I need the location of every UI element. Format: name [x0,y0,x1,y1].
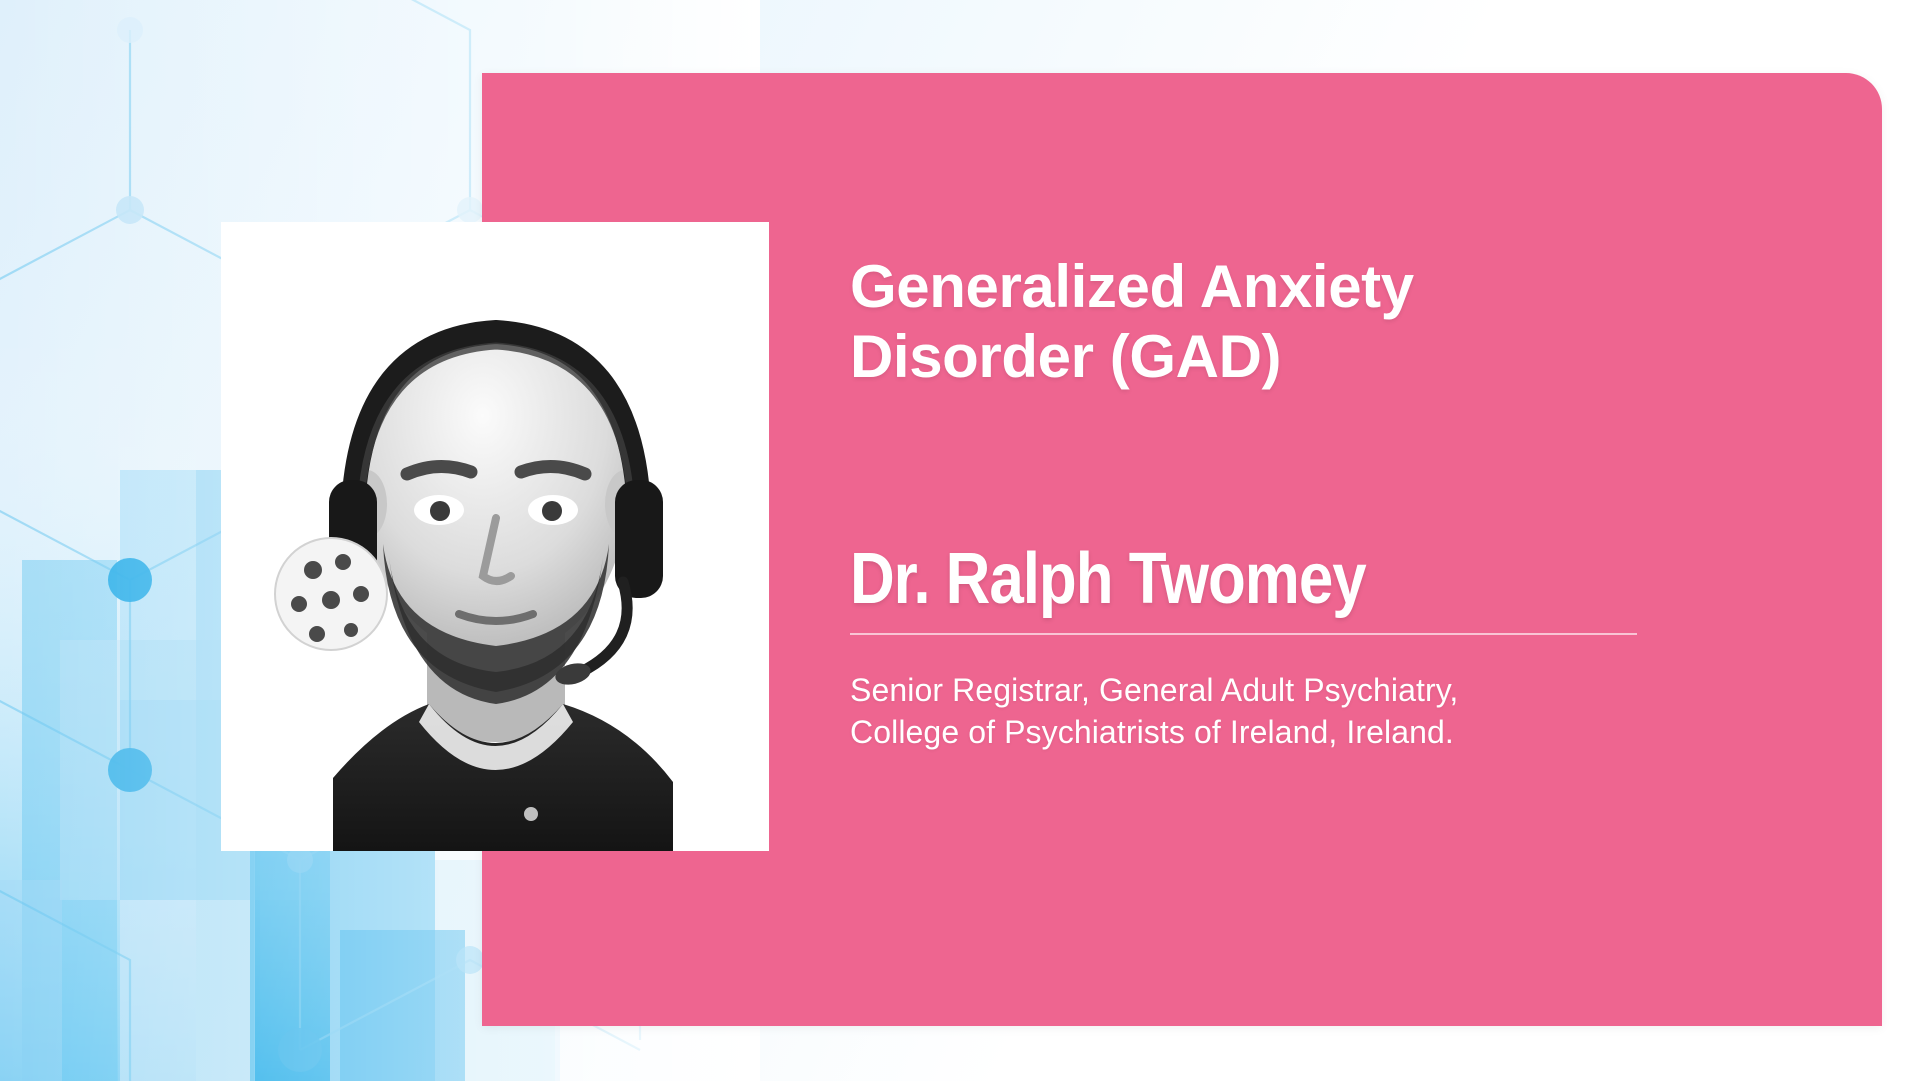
portrait-illustration [221,222,769,851]
mic-windscreen [275,538,387,650]
session-title: Generalized Anxiety Disorder (GAD) [850,252,1690,391]
name-divider [850,633,1637,635]
speaker-portrait [221,222,769,851]
speaker-name: Dr. Ralph Twomey [850,543,1572,615]
slide-canvas: Generalized Anxiety Disorder (GAD) Dr. R… [0,0,1921,1081]
text-block: Generalized Anxiety Disorder (GAD) Dr. R… [850,252,1690,754]
speaker-affiliation: Senior Registrar, General Adult Psychiat… [850,669,1690,753]
